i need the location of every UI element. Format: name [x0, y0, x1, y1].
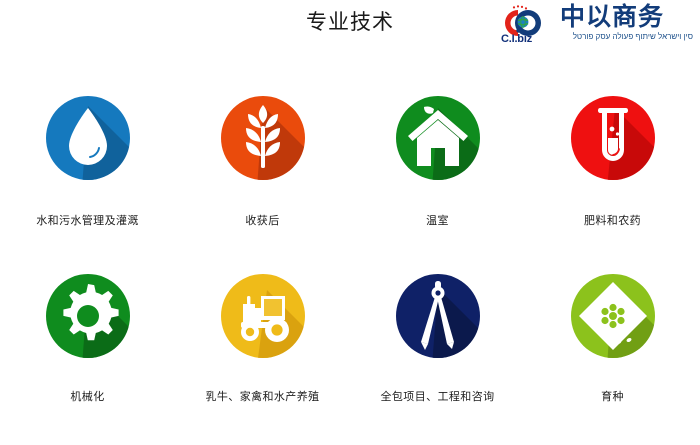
wheat-stalk-icon: [217, 92, 309, 184]
logo-biz-text: C.I.biz: [501, 33, 532, 45]
category-label: 温室: [426, 214, 449, 229]
seed-packet-icon: [567, 270, 659, 362]
category-grid: 水和污水管理及灌溉: [0, 78, 700, 438]
category-item-breeding-seeds[interactable]: 育种: [525, 258, 700, 438]
technology-categories-page: 专业技术: [0, 0, 700, 445]
category-label: 肥料和农药: [584, 214, 641, 229]
page-header: 专业技术: [0, 0, 700, 58]
category-item-turnkey-projects-engineering-consulting[interactable]: 全包项目、工程和咨询: [350, 258, 525, 438]
greenhouse-home-icon: [392, 92, 484, 184]
category-label: 水和污水管理及灌溉: [36, 214, 139, 229]
category-item-mechanization[interactable]: 机械化: [0, 258, 175, 438]
interlocking-circles-globe-icon: C.I.biz: [498, 4, 558, 46]
logo-hebrew-tagline: סין וישראל שיתוף פעולה עסק פורטל: [560, 31, 694, 42]
category-item-post-harvest[interactable]: 收获后: [175, 78, 350, 258]
water-drop-icon: [42, 92, 134, 184]
category-label: 机械化: [70, 390, 104, 405]
gear-icon: [42, 270, 134, 362]
site-logo[interactable]: C.I.biz 中以商务 סין וישראל שיתוף פעולה עסק …: [498, 4, 694, 48]
category-item-water-wastewater-irrigation[interactable]: 水和污水管理及灌溉: [0, 78, 175, 258]
category-label: 育种: [601, 390, 624, 405]
test-tube-icon: [567, 92, 659, 184]
category-label: 乳牛、家禽和水产养殖: [206, 390, 320, 405]
category-label: 全包项目、工程和咨询: [381, 390, 495, 405]
logo-chinese-name: 中以商务: [560, 4, 694, 31]
category-item-dairy-poultry-aquaculture[interactable]: 乳牛、家禽和水产养殖: [175, 258, 350, 438]
tractor-icon: [217, 270, 309, 362]
compass-divider-icon: [392, 270, 484, 362]
category-item-greenhouse[interactable]: 温室: [350, 78, 525, 258]
category-item-fertilizer-pesticide[interactable]: 肥料和农药: [525, 78, 700, 258]
logo-wordmark: 中以商务 סין וישראל שיתוף פעולה עסק פורטל: [558, 4, 694, 42]
category-label: 收获后: [245, 214, 279, 229]
